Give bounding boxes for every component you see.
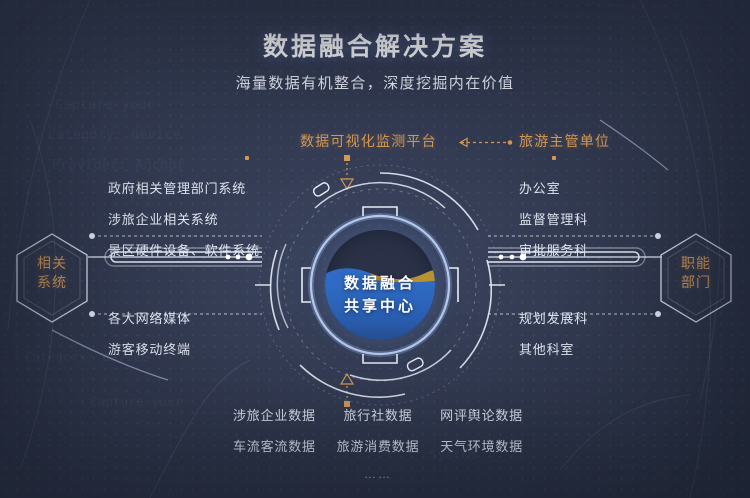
center-hub: 数据融合 共享中心 xyxy=(255,160,505,410)
grid-cell: 车流客流数据 xyxy=(233,436,316,455)
list-item: 游客移动终端 xyxy=(108,339,191,358)
hex-left-line2: 系统 xyxy=(14,273,90,292)
hexagon-left-label: 相关 系统 xyxy=(14,254,90,292)
center-title-line1: 数据融合 xyxy=(255,272,505,293)
bottom-data-grid: 涉旅企业数据 旅行社数据 网评舆论数据 车流客流数据 旅游消费数据 天气环境数据… xyxy=(233,405,523,481)
list-item: 政府相关管理部门系统 xyxy=(108,178,260,197)
list-item: 监督管理科 xyxy=(519,209,588,228)
grid-cell: 旅游消费数据 xyxy=(337,436,420,455)
watermark-text: Category: device xyxy=(48,128,181,143)
infographic-canvas: Capture your Category: device Provider: … xyxy=(0,0,750,498)
dotted-arrow-icon xyxy=(451,137,514,148)
hex-right-line2: 部门 xyxy=(658,273,734,292)
label-tourism-authority: 旅游主管单位 xyxy=(519,131,610,151)
label-visualization-platform: 数据可视化监测平台 xyxy=(300,131,437,151)
hexagon-right-label: 职能 部门 xyxy=(658,254,734,292)
page-subtitle: 海量数据有机整合，深度挖掘内在价值 xyxy=(0,72,750,93)
watermark-text: Capture your xyxy=(55,98,155,113)
list-item: 其他科室 xyxy=(519,339,588,358)
table-row: 车流客流数据 旅游消费数据 天气环境数据 xyxy=(233,436,523,455)
grid-cell: 天气环境数据 xyxy=(440,436,523,455)
list-item: 涉旅企业相关系统 xyxy=(108,209,260,228)
center-title-line2: 共享中心 xyxy=(255,295,505,316)
watermark-text: Capture your xyxy=(90,395,183,409)
page-title: 数据融合解决方案 xyxy=(0,27,750,63)
ellipsis-label: …… xyxy=(233,467,523,481)
connector-dot xyxy=(552,156,556,160)
connector-left xyxy=(86,230,276,320)
list-item: 办公室 xyxy=(519,178,588,197)
connector-dot xyxy=(245,156,249,160)
watermark-text: Provider: Anchor xyxy=(52,158,185,173)
hex-right-line1: 职能 xyxy=(658,254,734,273)
hex-left-line1: 相关 xyxy=(14,254,90,273)
